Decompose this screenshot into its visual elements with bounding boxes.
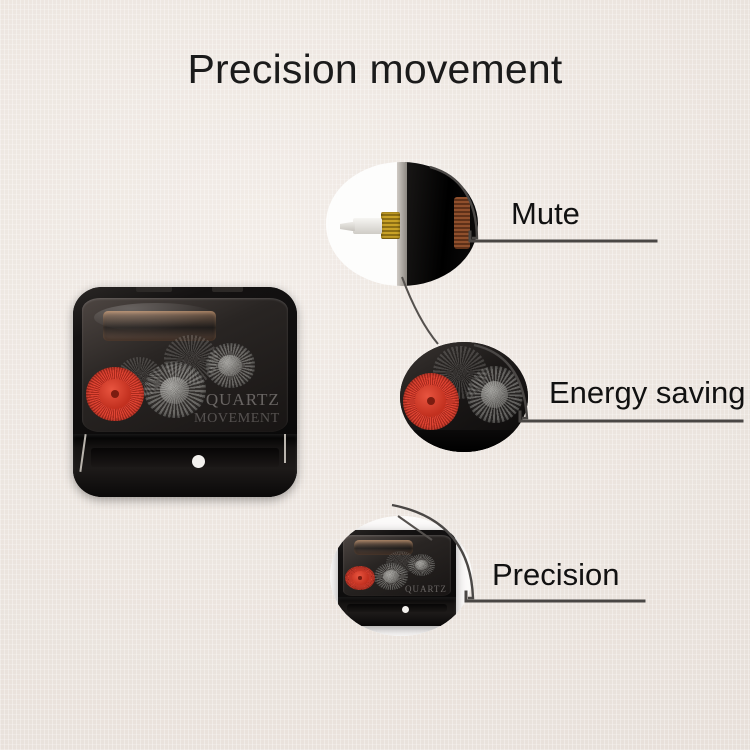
case-notch-left [136, 287, 172, 292]
brand-text: QUARTZ [206, 390, 280, 409]
contact-spring-right [284, 434, 286, 463]
underline-precision [466, 592, 644, 601]
mini-tray-dot [402, 606, 409, 613]
mini-battery-tray [338, 597, 456, 626]
mini-brand-text: QUARTZ [405, 584, 447, 594]
case-edge-closeup [400, 430, 528, 452]
mini-brand-label: QUARTZ [405, 584, 447, 594]
feature-label-precision: Precision [492, 557, 620, 593]
movement-window: QUARTZ MOVEMENT [82, 298, 288, 432]
battery-tray [73, 434, 297, 497]
movement-mini-image: QUARTZ [338, 530, 456, 626]
underline-mute [470, 232, 656, 241]
feature-label-energy-saving: Energy saving [549, 375, 745, 411]
callout-circle-precision: QUARTZ [330, 516, 472, 636]
coil-side-view [454, 197, 471, 249]
mini-gear-gray-right [408, 554, 435, 576]
mini-battery-slot [347, 604, 446, 613]
mini-window: QUARTZ [343, 535, 452, 596]
arc-mute-to-energy [402, 277, 438, 344]
mini-gear-gray-center [374, 563, 408, 590]
case-notch-right [212, 287, 243, 292]
page-title: Precision movement [0, 46, 750, 93]
underline-energy-saving [520, 412, 742, 421]
feature-label-mute: Mute [511, 196, 580, 232]
plastic-shaft [353, 218, 382, 234]
gear-gray-right [206, 343, 255, 387]
product-main-image: QUARTZ MOVEMENT [73, 287, 297, 497]
gear-red-drive [86, 367, 144, 421]
brass-threaded-collar [381, 212, 401, 239]
mini-gear-red [345, 566, 375, 591]
infographic-canvas: Precision movement QUARTZ MOVEMENT [0, 0, 750, 750]
callout-circle-mute [326, 162, 478, 286]
callout-circle-energy-saving [400, 342, 528, 452]
brand-label: QUARTZ MOVEMENT [194, 390, 280, 427]
tray-marker-dot [192, 455, 205, 468]
battery-slot [91, 448, 279, 467]
brand-subtext: MOVEMENT [194, 410, 280, 427]
gear-red-closeup [403, 373, 459, 430]
